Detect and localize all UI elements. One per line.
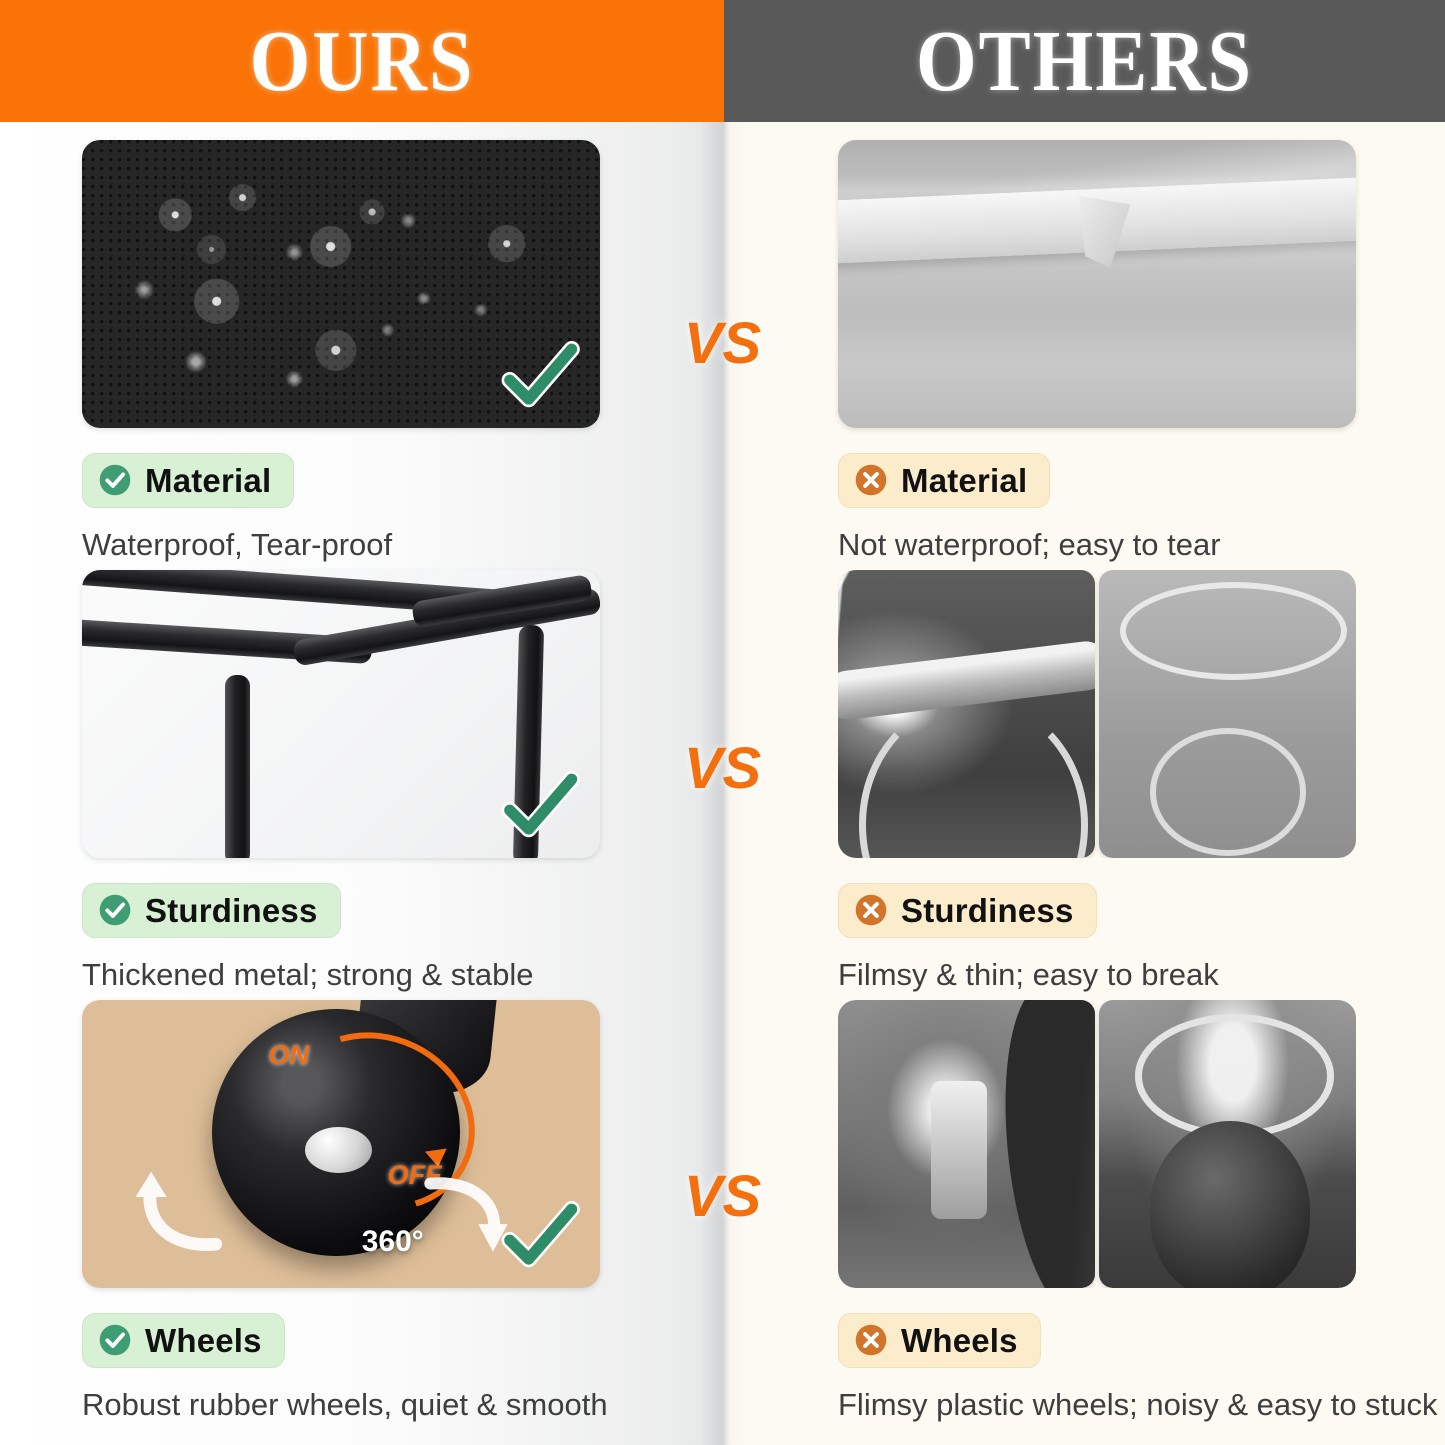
header-title-others: OTHERS bbox=[916, 11, 1253, 112]
comparison-row-material: Material Waterproof, Tear-proof Material… bbox=[0, 122, 1445, 552]
ours-sturdiness-image bbox=[82, 570, 600, 858]
plastic-wheel-bracket-photo bbox=[838, 1000, 1095, 1288]
thin-metal-cart-photo bbox=[1099, 570, 1356, 858]
thin-tube-closeup-photo bbox=[838, 570, 1095, 858]
rotate-left-arrow-icon bbox=[108, 1158, 253, 1256]
plastic-wheel-underside-photo bbox=[1099, 1000, 1356, 1288]
ours-wheels-image: ON OFF 360° bbox=[82, 1000, 600, 1288]
ours-cell-wheels: ON OFF 360° bbox=[0, 982, 724, 1412]
torn-white-fabric-photo bbox=[838, 140, 1356, 428]
others-wheels-badge: Wheels bbox=[838, 1313, 1041, 1368]
comparison-row-wheels: ON OFF 360° bbox=[0, 982, 1445, 1412]
ours-material-badge-label: Material bbox=[145, 464, 271, 497]
ours-sturdiness-badge: Sturdiness bbox=[82, 883, 341, 938]
green-check-icon bbox=[496, 1192, 582, 1278]
ours-wheels-badge: Wheels bbox=[82, 1313, 285, 1368]
ours-wheels-description: Robust rubber wheels, quiet & smooth bbox=[82, 1388, 724, 1422]
others-material-badge: Material bbox=[838, 453, 1050, 508]
x-circle-icon bbox=[854, 1323, 888, 1357]
ours-material-badge: Material bbox=[82, 453, 294, 508]
others-cell-material: Material Not waterproof; easy to tear bbox=[724, 122, 1445, 552]
others-sturdiness-badge-label: Sturdiness bbox=[901, 894, 1074, 927]
x-circle-icon bbox=[854, 893, 888, 927]
ours-cell-sturdiness: Sturdiness Thickened metal; strong & sta… bbox=[0, 552, 724, 982]
ours-material-image bbox=[82, 140, 600, 428]
others-material-image bbox=[838, 140, 1356, 428]
ours-cell-material: Material Waterproof, Tear-proof bbox=[0, 122, 724, 552]
check-circle-icon bbox=[98, 1323, 132, 1357]
comparison-rows: Material Waterproof, Tear-proof Material… bbox=[0, 122, 1445, 1412]
others-cell-sturdiness: Sturdiness Filmsy & thin; easy to break bbox=[724, 552, 1445, 982]
check-circle-icon bbox=[98, 893, 132, 927]
green-check-icon bbox=[496, 332, 582, 418]
others-sturdiness-image bbox=[838, 570, 1356, 858]
others-sturdiness-badge: Sturdiness bbox=[838, 883, 1097, 938]
header-title-ours: OURS bbox=[250, 11, 475, 112]
comparison-infographic: OURS OTHERS bbox=[0, 0, 1445, 1445]
others-wheels-image bbox=[838, 1000, 1356, 1288]
x-circle-icon bbox=[854, 463, 888, 497]
wheel-on-label: ON bbox=[268, 1040, 309, 1071]
check-circle-icon bbox=[98, 463, 132, 497]
comparison-row-sturdiness: Sturdiness Thickened metal; strong & sta… bbox=[0, 552, 1445, 982]
header: OURS OTHERS bbox=[0, 0, 1445, 122]
others-wheels-description: Flimsy plastic wheels; noisy & easy to s… bbox=[838, 1388, 1445, 1422]
others-cell-wheels: Wheels Flimsy plastic wheels; noisy & ea… bbox=[724, 982, 1445, 1412]
ours-wheels-badge-label: Wheels bbox=[145, 1324, 262, 1357]
header-band-others: OTHERS bbox=[724, 0, 1445, 122]
green-check-icon bbox=[496, 762, 582, 848]
others-material-badge-label: Material bbox=[901, 464, 1027, 497]
ours-sturdiness-badge-label: Sturdiness bbox=[145, 894, 318, 927]
wheel-360-label: 360° bbox=[362, 1225, 424, 1259]
others-wheels-badge-label: Wheels bbox=[901, 1324, 1018, 1357]
header-band-ours: OURS bbox=[0, 0, 724, 122]
